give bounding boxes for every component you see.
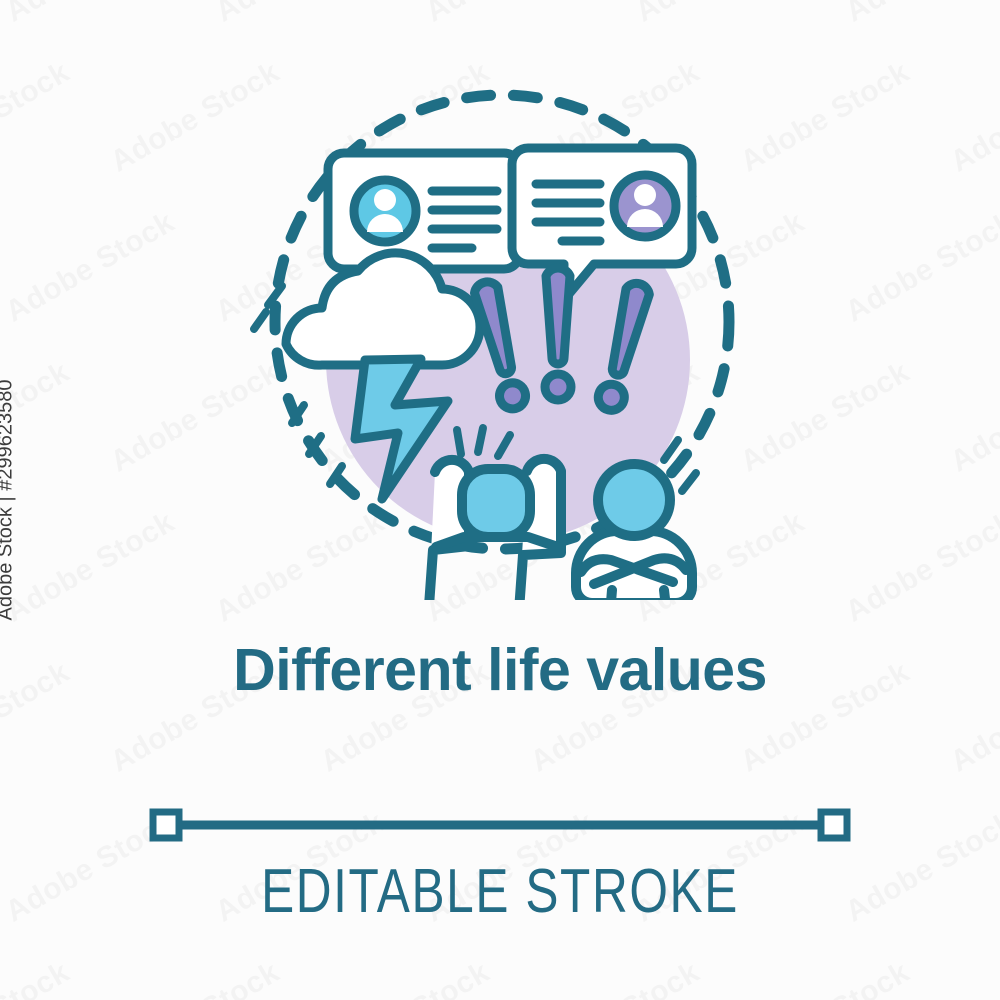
stroke-handle-left xyxy=(153,812,179,838)
concept-illustration xyxy=(240,60,760,600)
watermark-text: Adobe Stock xyxy=(630,0,811,29)
editable-stroke-block: EDITABLE STROKE xyxy=(0,800,1000,927)
watermark-text: Adobe Stock xyxy=(945,356,1000,480)
watermark-text: Adobe Stock xyxy=(945,56,1000,180)
watermark-text: Adobe Stock xyxy=(525,956,706,1000)
watermark-text: Adobe Stock xyxy=(315,956,496,1000)
avatar-cyan xyxy=(354,180,416,242)
watermark-text: Adobe Stock xyxy=(0,956,76,1000)
exclamation-marks xyxy=(472,268,653,413)
watermark-text: Adobe Stock xyxy=(735,956,916,1000)
watermark-text: Adobe Stock xyxy=(105,956,286,1000)
watermark-text: Adobe Stock xyxy=(0,0,181,29)
stroke-handle-right xyxy=(821,812,847,838)
watermark-text: Adobe Stock xyxy=(0,206,181,330)
watermark-text: Adobe Stock xyxy=(420,0,601,29)
watermark-text: Adobe Stock xyxy=(0,56,76,180)
watermark-text: Adobe Stock xyxy=(840,0,1000,29)
watermark-text: Adobe Stock xyxy=(840,206,1000,330)
watermark-text: Adobe Stock xyxy=(840,506,1000,630)
stock-credit-label: Adobe Stock | #299623580 xyxy=(0,380,18,621)
watermark-text: Adobe Stock xyxy=(735,356,916,480)
watermark-text: Adobe Stock xyxy=(0,506,181,630)
watermark-text: Adobe Stock xyxy=(735,56,916,180)
watermark-text: Adobe Stock xyxy=(945,956,1000,1000)
watermark-text: Adobe Stock xyxy=(210,0,391,29)
editable-stroke-caption: EDITABLE STROKE xyxy=(100,856,900,927)
exclamation-middle xyxy=(545,268,571,400)
page-title: Different life values xyxy=(0,636,1000,704)
avatar-purple xyxy=(614,175,676,237)
illustration-canvas: Adobe StockAdobe StockAdobe StockAdobe S… xyxy=(0,0,1000,1000)
